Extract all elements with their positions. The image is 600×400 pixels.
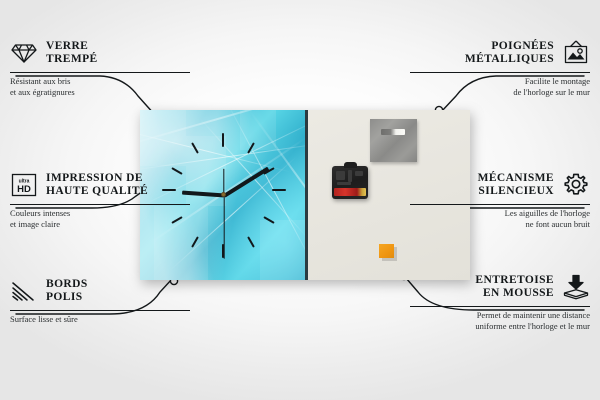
foam-spacer-icon (562, 273, 590, 301)
feature-header: VERRE TREMPÉ (10, 38, 190, 68)
feature-bords-polis: BORDS POLIS Surface lisse et sûre (10, 276, 190, 325)
feature-description: Permet de maintenir une distance uniform… (410, 310, 590, 331)
feature-header: ENTRETOISE EN MOUSSE (410, 272, 590, 302)
feature-divider (10, 204, 190, 205)
feature-title: POIGNÉES MÉTALLIQUES (465, 40, 554, 66)
feature-divider (410, 72, 590, 73)
feature-divider (410, 306, 590, 307)
feature-divider (10, 72, 190, 73)
svg-text:HD: HD (17, 184, 31, 195)
mechanism-tab (344, 162, 357, 168)
feature-description: Couleurs intenses et image claire (10, 208, 190, 229)
feature-header: BORDS POLIS (10, 276, 190, 306)
feature-entretoise-en-mousse: ENTRETOISE EN MOUSSE Permet de maintenir… (410, 272, 590, 331)
feature-description: Facilite le montage de l'horloge sur le … (410, 76, 590, 97)
feature-poignees-metalliques: POIGNÉES MÉTALLIQUES Facilite le montage… (410, 38, 590, 97)
clock-second-hand (223, 195, 224, 259)
metal-hanger-plate (370, 119, 417, 162)
clock-tick (247, 236, 255, 247)
feature-header: POIGNÉES MÉTALLIQUES (410, 38, 590, 68)
infographic-canvas: VERRE TREMPÉ Résistant aux bris et aux é… (0, 0, 600, 400)
gear-icon (562, 171, 590, 199)
feature-impression-haute-qualite: ultra HD IMPRESSION DE HAUTE QUALITÉ Cou… (10, 170, 190, 229)
feature-divider (10, 310, 190, 311)
feature-verre-trempe: VERRE TREMPÉ Résistant aux bris et aux é… (10, 38, 190, 97)
feature-description: Les aiguilles de l'horloge ne font aucun… (410, 208, 590, 229)
clock-tick (222, 133, 224, 147)
feature-title: MÉCANISME SILENCIEUX (478, 172, 554, 198)
feature-title: ENTRETOISE EN MOUSSE (475, 274, 554, 300)
feature-description: Résistant aux bris et aux égratignures (10, 76, 190, 97)
feature-header: ultra HD IMPRESSION DE HAUTE QUALITÉ (10, 170, 190, 200)
polished-edges-icon (10, 277, 38, 305)
hanger-slot (381, 129, 405, 135)
clock-center-cap (221, 192, 226, 197)
feature-title: BORDS POLIS (46, 278, 88, 304)
feature-description: Surface lisse et sûre (10, 314, 190, 325)
feature-mecanisme-silencieux: MÉCANISME SILENCIEUX Les aiguilles de l'… (410, 170, 590, 229)
hanging-frame-icon (562, 39, 590, 67)
feature-divider (410, 204, 590, 205)
feature-title: VERRE TREMPÉ (46, 40, 98, 66)
feature-title: IMPRESSION DE HAUTE QUALITÉ (46, 172, 148, 198)
diamond-icon (10, 39, 38, 67)
clock-tick (272, 189, 286, 191)
quartz-mechanism (332, 166, 368, 199)
feature-header: MÉCANISME SILENCIEUX (410, 170, 590, 200)
battery (334, 188, 366, 196)
ultra-hd-icon: ultra HD (10, 171, 38, 199)
foam-spacer (379, 244, 394, 258)
